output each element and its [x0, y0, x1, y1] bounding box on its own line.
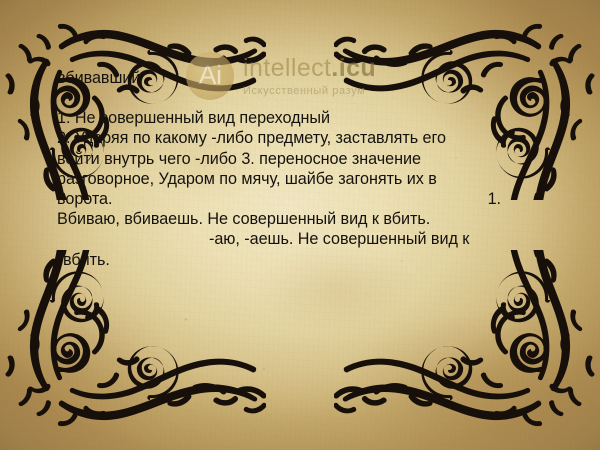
conjugation-line: вбить.: [57, 250, 501, 270]
parchment-page: Ai intellect.icu Искусственный разум вби…: [0, 0, 600, 450]
definition-line-with-sense-number: ворота. 1.: [57, 189, 501, 209]
definition-line: войти внутрь чего -либо 3. переносное зн…: [57, 149, 501, 169]
definition-line-tail: ворота.: [57, 189, 112, 209]
conjugation-line: Вбиваю, вбиваешь. Не совершенный вид к в…: [57, 209, 501, 229]
sense-number: 1.: [488, 189, 501, 209]
definition-line: 2. Ударяя по какому -либо предмету, заст…: [57, 128, 501, 148]
definition-line: 1. Не совершенный вид переходный: [57, 108, 501, 128]
article-spacer: [57, 88, 501, 108]
definition-line: разговорное, Ударом по мячу, шайбе загон…: [57, 169, 501, 189]
conjugation-line: -аю, -аешь. Не совершенный вид к: [57, 229, 501, 249]
headword: вбивавший: [57, 68, 501, 88]
dictionary-article: вбивавший 1. Не совершенный вид переходн…: [57, 68, 501, 270]
definition-body: 1. Не совершенный вид переходный 2. Удар…: [57, 108, 501, 270]
